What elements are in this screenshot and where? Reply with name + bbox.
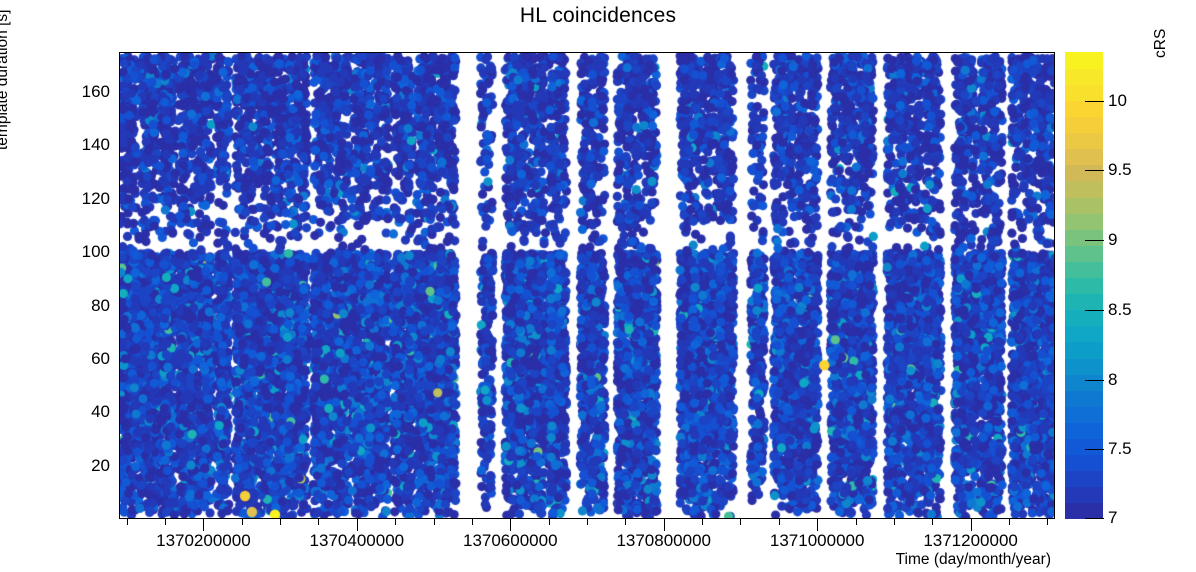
x-tick-major: [203, 519, 204, 531]
x-tick-minor: [625, 519, 626, 525]
y-tick-label: 100: [62, 242, 110, 262]
x-tick-minor: [779, 519, 780, 525]
colorbar-tick: [1085, 380, 1104, 381]
scatter-points: [120, 53, 1054, 518]
y-tick-label: 140: [62, 135, 110, 155]
x-tick-minor: [932, 519, 933, 525]
colorbar-tick-label: 8.5: [1108, 300, 1132, 320]
x-tick-label: 1370400000: [310, 531, 405, 551]
y-tick-label: 80: [62, 296, 110, 316]
y-axis-tick-labels: 20406080100120140160: [56, 52, 110, 519]
colorbar-ticks: [1085, 52, 1107, 519]
x-tick-minor: [280, 519, 281, 525]
x-tick-major: [817, 519, 818, 531]
colorbar-tick-label: 8: [1108, 370, 1117, 390]
y-tick-label: 160: [62, 82, 110, 102]
x-tick-minor: [856, 519, 857, 525]
x-tick-label: 1370200000: [156, 531, 251, 551]
x-tick-minor: [549, 519, 550, 525]
y-axis-title: template duration [s]: [0, 0, 12, 150]
x-tick-major: [664, 519, 665, 531]
colorbar-tick: [1085, 518, 1104, 519]
x-tick-minor: [702, 519, 703, 525]
x-tick-major: [510, 519, 511, 531]
x-tick-minor: [894, 519, 895, 525]
x-tick-minor: [434, 519, 435, 525]
x-tick-minor: [242, 519, 243, 525]
x-tick-minor: [1047, 519, 1048, 525]
colorbar-tick: [1085, 310, 1104, 311]
colorbar-tick-label: 10: [1108, 91, 1127, 111]
colorbar-tick-label: 9.5: [1108, 160, 1132, 180]
x-tick-minor: [395, 519, 396, 525]
colorbar-tick: [1085, 101, 1104, 102]
colorbar-tick: [1085, 240, 1104, 241]
x-tick-label: 1370600000: [463, 531, 558, 551]
x-tick-minor: [587, 519, 588, 525]
x-tick-label: 1371200000: [923, 531, 1018, 551]
plot-area: [119, 52, 1055, 519]
colorbar-tick-labels: 77.588.599.510: [1108, 52, 1168, 519]
x-axis-title: Time (day/month/year): [0, 551, 1055, 569]
chart-root: HL coincidences template duration [s] 20…: [0, 0, 1196, 572]
colorbar-title: cRS: [1152, 0, 1170, 58]
x-tick-minor: [318, 519, 319, 525]
x-tick-major: [357, 519, 358, 531]
x-tick-label: 1371000000: [770, 531, 865, 551]
colorbar-tick-label: 7: [1108, 508, 1117, 528]
x-tick-minor: [472, 519, 473, 525]
y-tick-label: 40: [62, 402, 110, 422]
x-tick-minor: [127, 519, 128, 525]
colorbar-tick-label: 9: [1108, 230, 1117, 250]
colorbar-tick: [1085, 170, 1104, 171]
x-tick-minor: [165, 519, 166, 525]
x-tick-minor: [1009, 519, 1010, 525]
x-tick-label: 1370800000: [616, 531, 711, 551]
x-tick-minor: [740, 519, 741, 525]
page-title: HL coincidences: [0, 4, 1196, 28]
y-tick-label: 60: [62, 349, 110, 369]
y-tick-label: 20: [62, 456, 110, 476]
colorbar-tick: [1085, 449, 1104, 450]
x-tick-major: [971, 519, 972, 531]
colorbar-tick-label: 7.5: [1108, 439, 1132, 459]
y-tick-label: 120: [62, 189, 110, 209]
